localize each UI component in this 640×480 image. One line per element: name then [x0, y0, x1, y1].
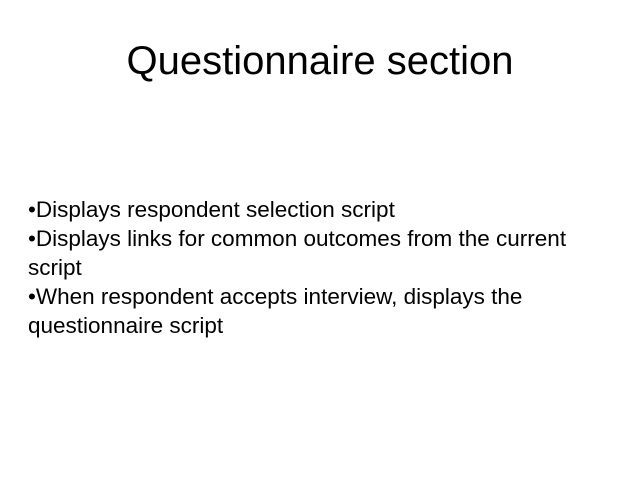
list-item: •Displays links for common outcomes from…: [28, 224, 614, 282]
list-item: •When respondent accepts interview, disp…: [28, 282, 614, 340]
bullet-icon: •: [28, 226, 36, 251]
list-item-label: Displays respondent selection script: [36, 197, 395, 222]
list-item-label: Displays links for common outcomes from …: [28, 226, 566, 280]
list-item-label: When respondent accepts interview, displ…: [28, 284, 522, 338]
page-title: Questionnaire section: [0, 38, 640, 84]
bullet-list: •Displays respondent selection script •D…: [28, 195, 614, 340]
bullet-icon: •: [28, 284, 36, 309]
presentation-slide: Questionnaire section •Displays responde…: [0, 0, 640, 480]
bullet-icon: •: [28, 197, 36, 222]
list-item: •Displays respondent selection script: [28, 195, 614, 224]
